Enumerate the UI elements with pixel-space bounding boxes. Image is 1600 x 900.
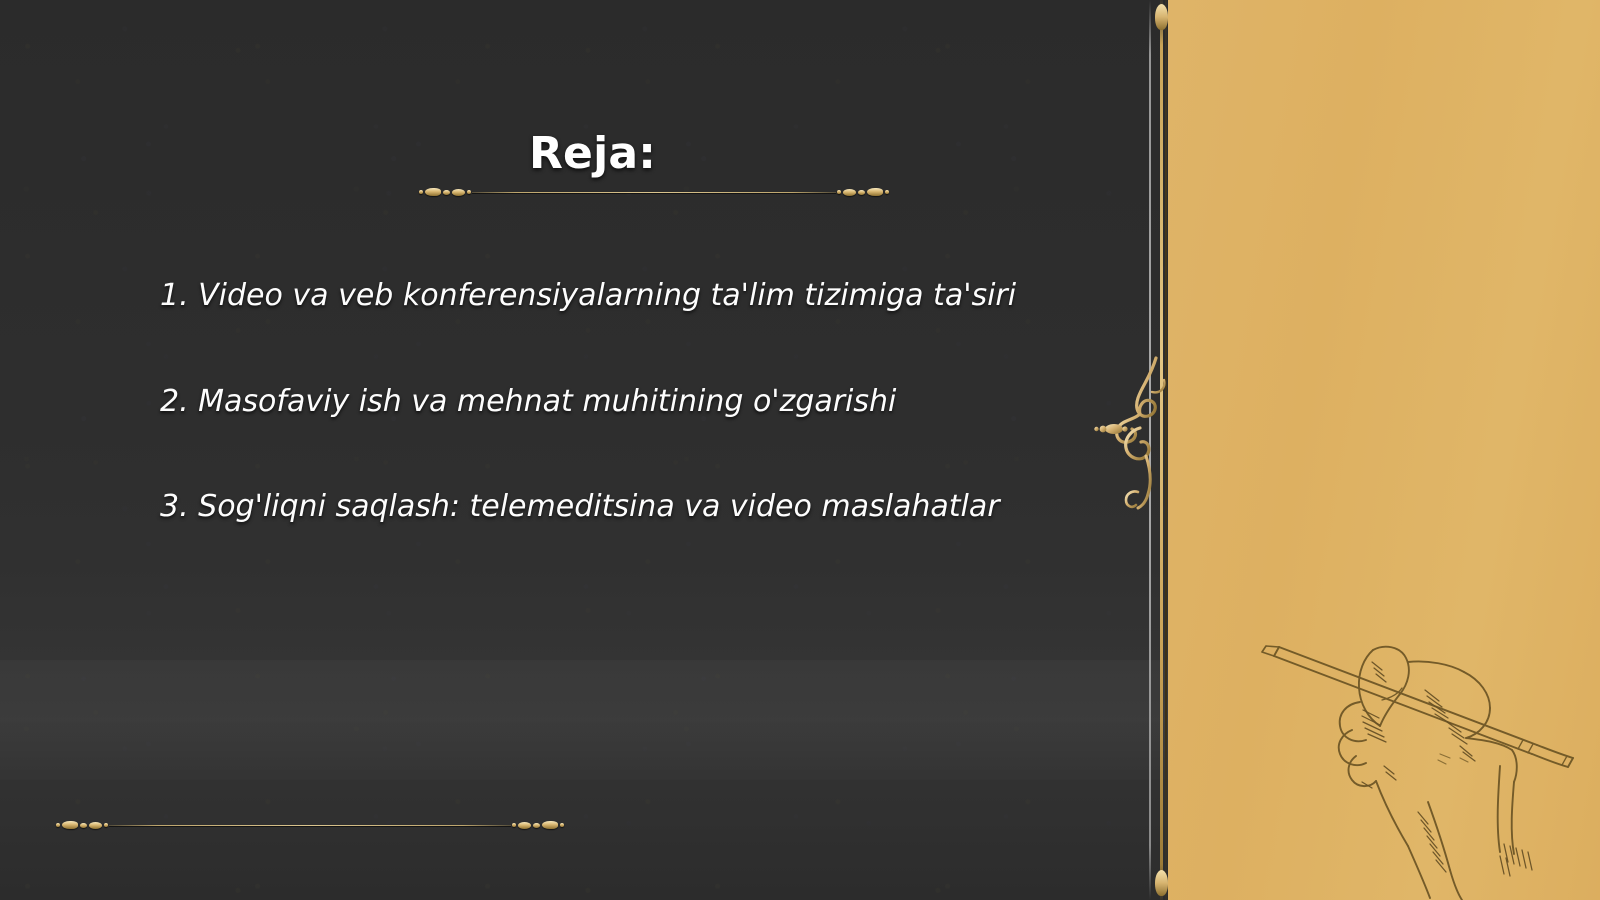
divider-bead-icon [467, 190, 471, 194]
divider-bead-icon [837, 190, 841, 194]
hand-holding-pencil-illustration [1232, 606, 1600, 900]
title-divider-ornament [418, 184, 890, 200]
divider-bead-icon [542, 821, 558, 829]
divider-left-ornament [55, 821, 109, 829]
list-item: 3. Sog'liqni saqlash: telemeditsina va v… [160, 488, 1100, 526]
divider-left-ornament [418, 188, 472, 196]
divider-bead-icon [419, 190, 423, 194]
gold-filigree-scroll-icon [1094, 352, 1172, 512]
bottom-divider-ornament [55, 817, 565, 833]
divider-bead-icon [56, 823, 60, 827]
divider-bead-icon [858, 190, 865, 195]
slide-title-text: Reja: [529, 128, 656, 179]
presentation-slide: Reja: 1. Video va veb konferensiyalarnin… [0, 0, 1600, 900]
divider-bead-icon [560, 823, 564, 827]
divider-bead-icon [533, 823, 540, 828]
divider-bead-icon [885, 190, 889, 194]
divider-right-ornament [511, 821, 565, 829]
divider-bead-icon [452, 189, 465, 196]
divider-bead-icon [518, 822, 531, 829]
divider-bead-icon [867, 188, 883, 196]
slide-title: Reja: [0, 128, 1150, 179]
list-item: 2. Masofaviy ish va mehnat muhitining o'… [160, 383, 1100, 421]
agenda-list: 1. Video va veb konferensiyalarning ta'l… [160, 277, 1100, 526]
divider-right-ornament [836, 188, 890, 196]
divider-bead-icon [512, 823, 516, 827]
panel-rule-cap-top-icon [1155, 4, 1168, 30]
list-item: 1. Video va veb konferensiyalarning ta'l… [160, 277, 1100, 315]
divider-bead-icon [89, 822, 102, 829]
divider-line [472, 192, 836, 193]
divider-bead-icon [425, 188, 441, 196]
divider-bead-icon [62, 821, 78, 829]
divider-bead-icon [843, 189, 856, 196]
divider-line [109, 825, 511, 826]
panel-rule-cap-bottom-icon [1155, 870, 1168, 896]
divider-bead-icon [104, 823, 108, 827]
divider-bead-icon [80, 823, 87, 828]
divider-bead-icon [443, 190, 450, 195]
